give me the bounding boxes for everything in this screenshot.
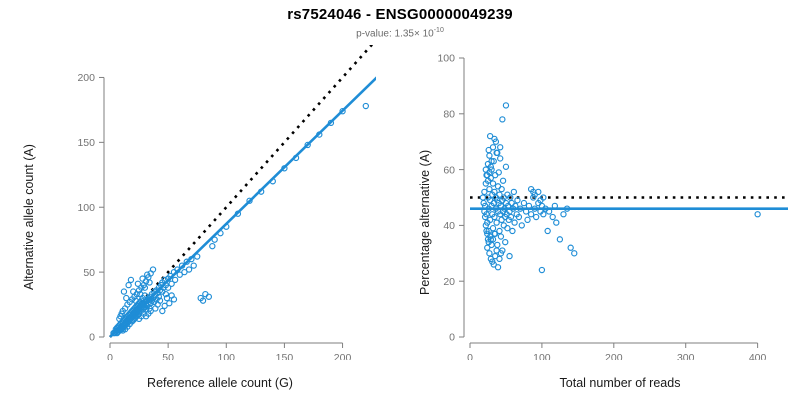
data-point <box>212 237 217 242</box>
data-point <box>173 277 178 282</box>
x-tick-label: 50 <box>162 352 174 360</box>
data-point <box>210 244 215 249</box>
data-point <box>126 282 131 287</box>
data-point <box>561 212 566 217</box>
data-points <box>480 103 760 273</box>
data-point <box>501 223 506 228</box>
data-point <box>494 220 499 225</box>
data-point <box>128 277 133 282</box>
data-point <box>498 234 503 239</box>
x-tick-label: 0 <box>107 352 113 360</box>
x-tick-label: 300 <box>677 352 695 360</box>
y-tick-label: 80 <box>443 109 455 121</box>
panel-allele-counts: 050100150200050100150200 <box>0 45 400 360</box>
data-point <box>498 145 503 150</box>
panel-percentage-alternative: 0100200300400020406080100 <box>400 45 800 360</box>
y-tick-label: 0 <box>449 332 455 344</box>
data-point <box>480 195 485 200</box>
data-point <box>496 170 501 175</box>
data-point <box>363 103 368 108</box>
page-title: rs7524046 - ENSG00000049239 <box>0 6 800 23</box>
data-point <box>500 117 505 122</box>
data-point <box>503 103 508 108</box>
plot-area <box>110 45 390 337</box>
data-point <box>495 242 500 247</box>
data-point <box>505 226 510 231</box>
data-point <box>755 212 760 217</box>
x-tick-label: 150 <box>276 352 294 360</box>
data-point <box>195 254 200 259</box>
y-axis-title-right: Percentage alternative (A) <box>418 150 432 295</box>
x-tick-label: 100 <box>218 352 236 360</box>
x-axis-title-right: Total number of reads <box>460 376 780 390</box>
x-axis-title-left: Reference allele count (G) <box>60 376 380 390</box>
data-point <box>487 153 492 158</box>
pvalue-exponent: -10 <box>434 27 444 34</box>
data-point <box>499 217 504 222</box>
x-tick-label: 200 <box>605 352 623 360</box>
data-point <box>490 181 495 186</box>
data-point <box>539 267 544 272</box>
data-point <box>554 220 559 225</box>
data-point <box>490 226 495 231</box>
data-point <box>510 228 515 233</box>
data-point <box>503 164 508 169</box>
data-point <box>536 189 541 194</box>
data-point <box>495 184 500 189</box>
y-tick-label: 200 <box>77 72 95 84</box>
data-point <box>545 228 550 233</box>
data-points <box>111 103 369 335</box>
data-point <box>186 267 191 272</box>
data-point <box>509 200 514 205</box>
y-tick-label: 20 <box>443 276 455 288</box>
figure-root: rs7524046 - ENSG00000049239 p-value: 1.3… <box>0 0 800 400</box>
x-tick-label: 400 <box>749 352 767 360</box>
y-tick-label: 150 <box>77 137 95 149</box>
plot-area <box>470 103 800 273</box>
x-tick-label: 0 <box>467 352 473 360</box>
data-point <box>495 265 500 270</box>
data-point <box>521 200 526 205</box>
data-point <box>487 251 492 256</box>
y-tick-label: 100 <box>437 53 455 65</box>
y-tick-label: 50 <box>83 267 95 279</box>
y-tick-label: 100 <box>77 202 95 214</box>
data-point <box>529 212 534 217</box>
pvalue-subtitle: p-value: 1.35× 10-10 <box>0 27 800 39</box>
data-point <box>482 189 487 194</box>
y-tick-label: 0 <box>89 332 95 344</box>
y-tick-label: 40 <box>443 220 455 232</box>
scatter-plot-percentage-alternative: 0100200300400020406080100 <box>400 45 800 360</box>
data-point <box>121 289 126 294</box>
data-point <box>500 178 505 183</box>
data-point <box>167 301 172 306</box>
data-point <box>499 187 504 192</box>
data-point <box>572 251 577 256</box>
data-point <box>568 245 573 250</box>
data-point <box>534 214 539 219</box>
data-point <box>493 173 498 178</box>
data-point <box>525 217 530 222</box>
data-point <box>497 256 502 261</box>
data-point <box>218 231 223 236</box>
pvalue-text: p-value: 1.35× 10 <box>356 28 434 39</box>
data-point <box>550 214 555 219</box>
data-point <box>497 228 502 233</box>
data-point <box>511 189 516 194</box>
data-point <box>557 237 562 242</box>
data-point <box>503 240 508 245</box>
data-point <box>486 147 491 152</box>
x-tick-label: 200 <box>334 352 352 360</box>
scatter-plot-allele-counts: 050100150200050100150200 <box>0 45 400 360</box>
y-tick-label: 60 <box>443 164 455 176</box>
data-point <box>487 187 492 192</box>
y-axis-title-left: Alternative allele count (A) <box>22 144 36 290</box>
data-point <box>519 223 524 228</box>
data-point <box>191 263 196 268</box>
data-point <box>498 156 503 161</box>
x-tick-label: 100 <box>533 352 551 360</box>
data-point <box>512 220 517 225</box>
data-point <box>483 167 488 172</box>
data-point <box>160 308 165 313</box>
data-point <box>507 253 512 258</box>
